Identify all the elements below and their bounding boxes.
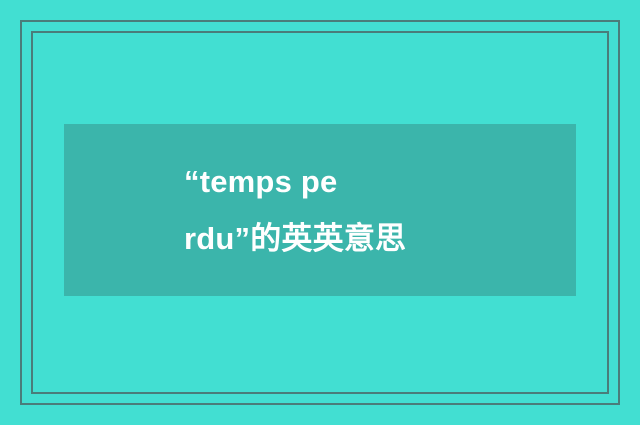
title-panel: “temps pe rdu”的英英意思 [64,124,576,296]
title-line-2: rdu”的英英意思 [184,210,406,267]
title-line-1: “temps pe [184,153,337,210]
text-card: “temps pe rdu”的英英意思 [0,0,640,425]
